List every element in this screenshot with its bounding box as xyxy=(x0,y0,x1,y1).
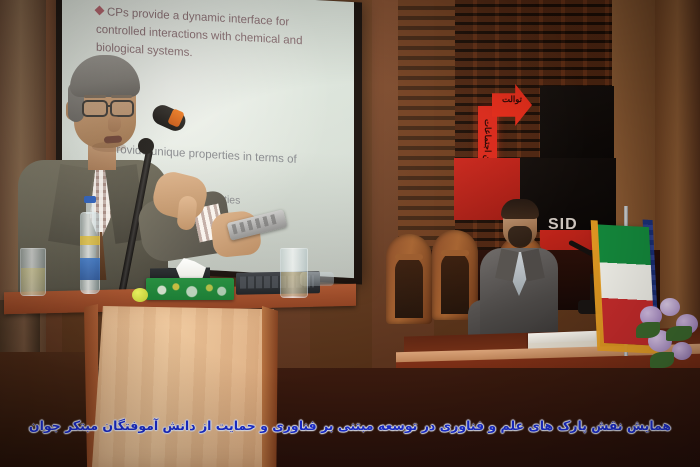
water-bottle-label xyxy=(80,258,100,280)
event-caption: همایش نقش پارک های علم و فناوری در توسعه… xyxy=(0,418,700,433)
speaker-chin-shadow xyxy=(92,142,126,152)
speaker-eyebrow-left xyxy=(84,95,106,98)
flower-leaf xyxy=(666,326,692,341)
water-bottle-cap xyxy=(84,196,96,203)
wall-slat-panel-left xyxy=(398,0,458,250)
flower-leaf xyxy=(650,352,674,368)
arrow-right-icon xyxy=(492,84,532,126)
podium-right-edge xyxy=(262,306,278,467)
conference-photo: ions CPs provide a dynamic interface for… xyxy=(0,0,700,467)
water-bottle xyxy=(80,212,100,294)
yellow-ball xyxy=(132,288,148,302)
chair-backrest xyxy=(386,234,432,324)
sign-head-text: توالت xyxy=(496,94,528,105)
chair-crossbar xyxy=(441,250,469,256)
chair-slot xyxy=(441,252,469,314)
black-panel-upper xyxy=(540,86,614,158)
panelist-hair xyxy=(501,199,539,219)
flower-leaf xyxy=(636,322,660,338)
speaker-nose xyxy=(108,116,121,132)
eyeglasses-lens-right xyxy=(110,100,134,117)
podium-wood-grain xyxy=(92,306,274,467)
tissue-box-graphics xyxy=(146,278,234,300)
eyeglasses-bridge xyxy=(106,105,112,107)
glass-contents-left xyxy=(21,268,45,295)
glass-contents-right xyxy=(281,272,307,296)
chair-crossbar xyxy=(395,254,423,260)
flower-petal xyxy=(660,298,680,316)
water-bottle-label-gold xyxy=(80,236,100,245)
floor-left-area xyxy=(0,352,96,467)
eyeglasses-lens-left xyxy=(82,100,108,117)
speaker-eyebrow-right xyxy=(111,95,132,98)
flower-arrangement xyxy=(636,296,700,376)
flower-petal xyxy=(672,342,692,360)
microphone-joint xyxy=(138,138,154,154)
chair-slot xyxy=(395,256,423,318)
